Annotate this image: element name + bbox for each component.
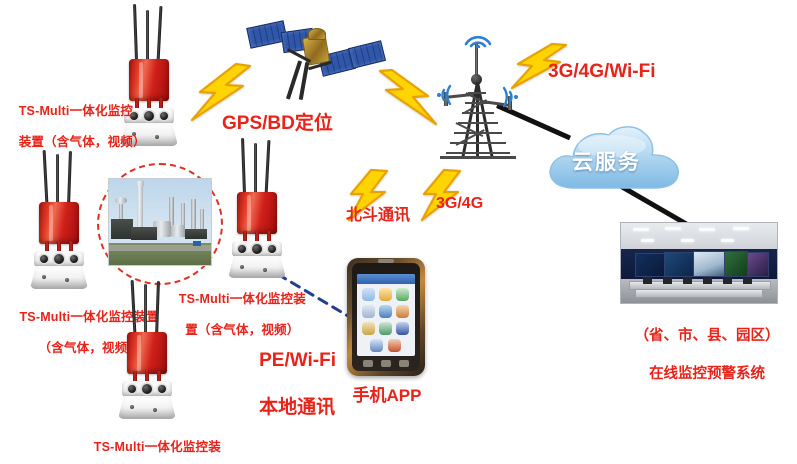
device-label-bottom-left-line1: TS-Multi一体化监控装 [94, 440, 221, 454]
link-label-local-comm: PE/Wi-Fi 本地通讯 [238, 326, 348, 442]
control-center-label-line1: （省、市、县、园区） [635, 328, 780, 344]
ts-multi-device-mid-left [18, 150, 104, 290]
cell-tower-icon [426, 22, 530, 160]
refinery-photo-icon [108, 178, 212, 266]
cloud-icon: 云服务 [540, 118, 690, 202]
device-label-top-left-line2: 装置（含气体，视频） [19, 135, 146, 149]
device-label-mid-center-line1: TS-Multi一体化监控装 [179, 292, 306, 306]
cloud-label: 云服务 [572, 146, 641, 176]
satellite-icon [246, 12, 382, 108]
ts-multi-device-bottom-left [106, 280, 192, 420]
link-label-beidou: 北斗通讯 [346, 206, 438, 226]
diagram-canvas: 云服务 [0, 0, 797, 464]
rugged-tablet-icon [347, 258, 425, 376]
device-label-top-left-line1: TS-Multi一体化监控 [19, 104, 133, 118]
control-center-label-line2: 在线监控预警系统 [649, 366, 765, 382]
link-label-3g4g: 3G/4G [436, 194, 514, 214]
control-room-icon [620, 222, 778, 304]
ts-multi-device-mid-center [216, 138, 302, 278]
device-label-bottom-left: TS-Multi一体化监控装 置（含气体，视频） [72, 424, 228, 464]
link-label-3g4g-wifi: 3G/4G/Wi-Fi [548, 60, 698, 84]
link-label-local-comm-line2: 本地通讯 [259, 397, 335, 418]
link-label-gps: GPS/BD定位 [222, 112, 362, 136]
mobile-app-label: 手机APP [348, 385, 426, 406]
control-center-label: （省、市、县、园区） 在线监控预警系统 [610, 308, 788, 402]
link-label-local-comm-line1: PE/Wi-Fi [259, 350, 336, 371]
